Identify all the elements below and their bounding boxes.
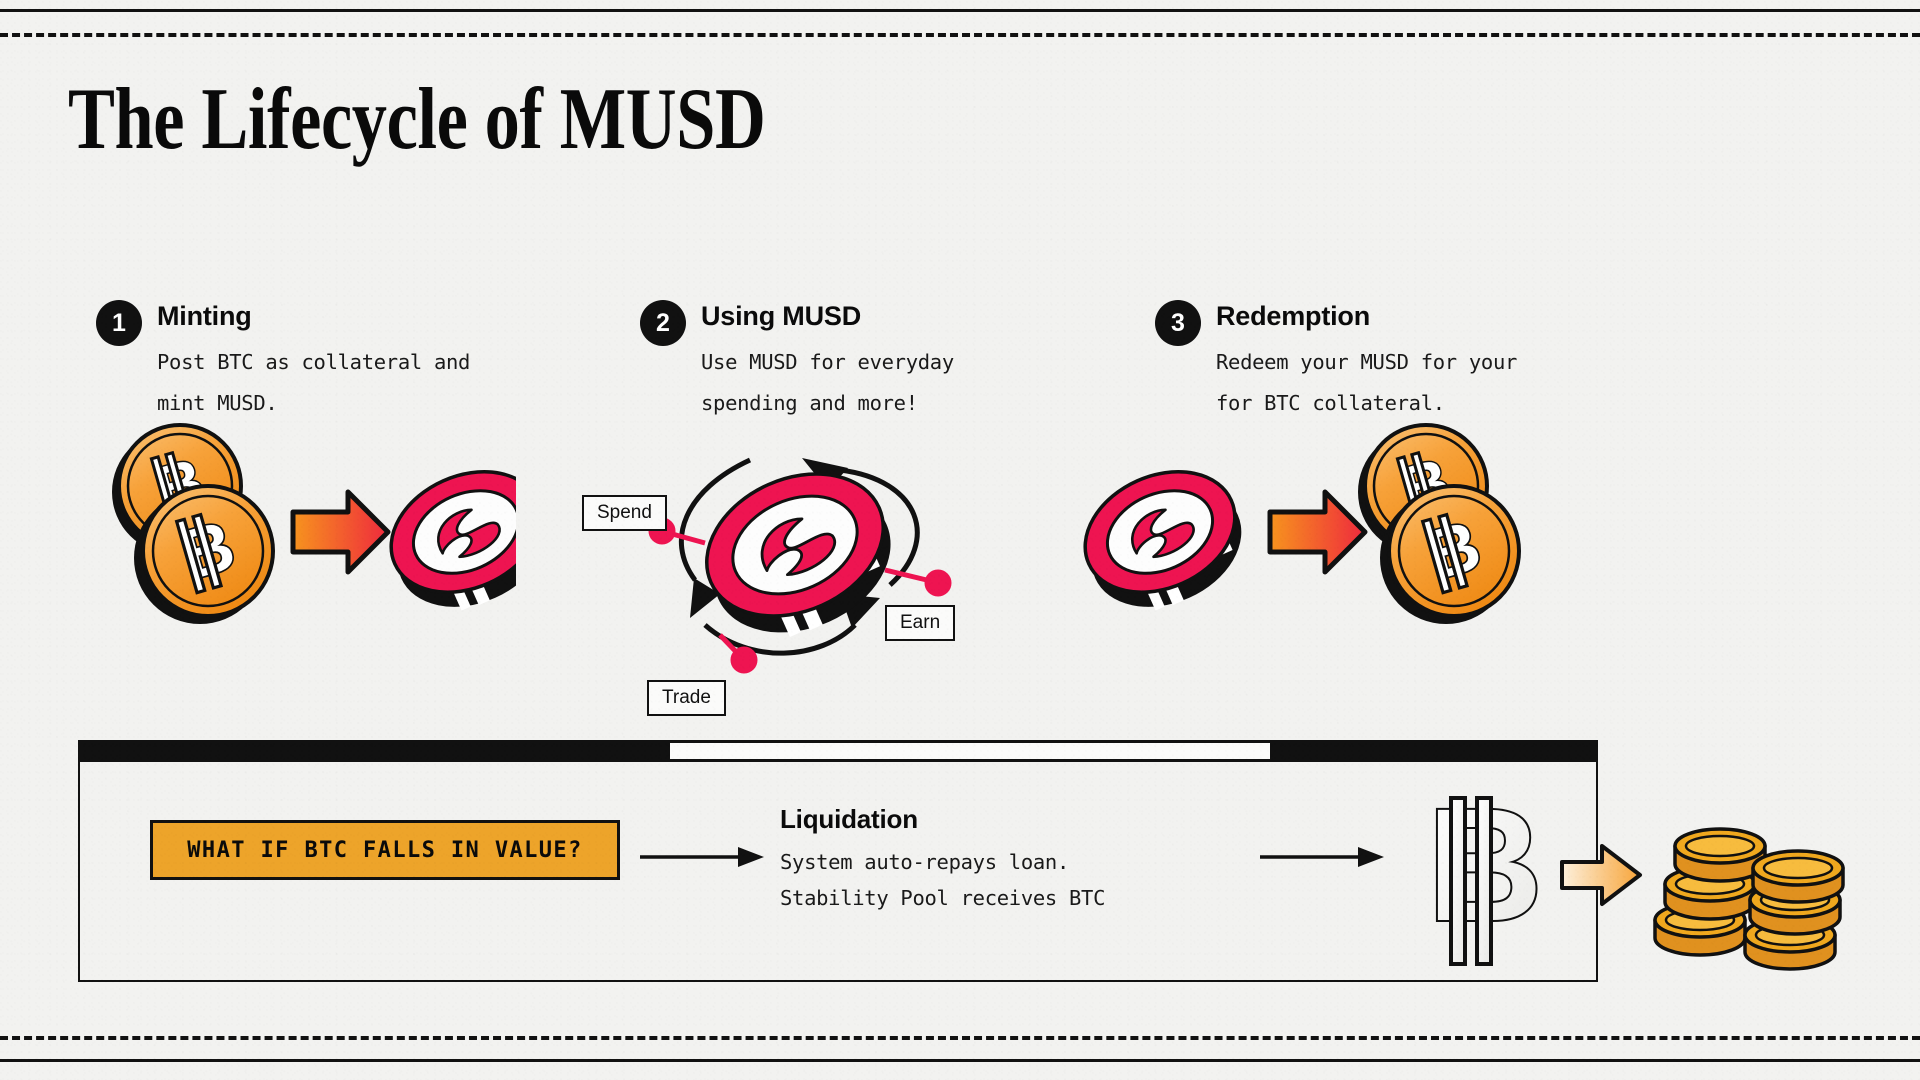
step-title: Redemption: [1216, 301, 1517, 332]
step-redemption: 3 Redemption Redeem your MUSD for your f…: [1155, 300, 1655, 424]
step-title: Using MUSD: [701, 301, 954, 332]
question-text: WHAT IF BTC FALLS IN VALUE?: [187, 838, 582, 863]
liquidation-description: System auto-repays loan. Stability Pool …: [780, 844, 1240, 916]
page-title: The Lifecycle of MUSD: [68, 76, 765, 164]
top-dashed-rule: [0, 33, 1920, 37]
question-box[interactable]: WHAT IF BTC FALLS IN VALUE?: [150, 820, 620, 880]
liquidation-text-block: Liquidation System auto-repays loan. Sta…: [780, 804, 1240, 916]
arrow-right-icon: [293, 492, 388, 572]
step-using-musd: 2 Using MUSD Use MUSD for everyday spend…: [640, 300, 1110, 424]
step-number-badge: 1: [96, 300, 142, 346]
musd-coin-icon: [372, 449, 516, 629]
step-minting: 1 Minting Post BTC as collateral and min…: [96, 300, 616, 424]
arrow-right-icon: [1270, 492, 1365, 572]
musd-coin-icon: [1066, 449, 1261, 629]
using-musd-illustration: [590, 410, 1010, 700]
step-number-badge: 3: [1155, 300, 1201, 346]
liquidation-top-bar-gap: [670, 743, 1270, 759]
liquidation-top-bar: [78, 740, 1598, 762]
label-trade-text: Trade: [662, 687, 711, 708]
step-number-badge: 2: [640, 300, 686, 346]
step-header: 3 Redemption Redeem your MUSD for your f…: [1155, 300, 1655, 424]
arrow-right-icon: [1558, 840, 1648, 910]
label-spend-text: Spend: [597, 502, 652, 523]
step-title: Minting: [157, 301, 470, 332]
arrow-right-icon: [640, 842, 770, 872]
step-description: Redeem your MUSD for your for BTC collat…: [1216, 342, 1517, 424]
minting-illustration: B B: [96, 420, 516, 630]
bitcoin-symbol-icon: B: [1410, 772, 1560, 972]
steps-row: 1 Minting Post BTC as collateral and min…: [0, 300, 1920, 730]
step-header: 2 Using MUSD Use MUSD for everyday spend…: [640, 300, 1110, 424]
label-spend[interactable]: Spend: [582, 495, 667, 531]
redemption-illustration: B B: [1020, 420, 1580, 630]
bottom-dashed-rule: [0, 1036, 1920, 1040]
step-header: 1 Minting Post BTC as collateral and min…: [96, 300, 616, 424]
label-earn[interactable]: Earn: [885, 605, 955, 641]
bottom-solid-rule: [0, 1059, 1920, 1062]
arrow-right-icon: [1260, 842, 1390, 872]
earn-dot: [927, 572, 949, 594]
liquidation-title: Liquidation: [780, 804, 1240, 835]
top-solid-rule: [0, 9, 1920, 12]
liquidation-panel: WHAT IF BTC FALLS IN VALUE? Liquidation …: [78, 760, 1598, 982]
label-trade[interactable]: Trade: [647, 680, 726, 716]
label-earn-text: Earn: [900, 612, 940, 633]
trade-dot: [733, 649, 755, 671]
coin-stack-icon: [1645, 780, 1865, 970]
step-description: Post BTC as collateral and mint MUSD.: [157, 342, 470, 424]
